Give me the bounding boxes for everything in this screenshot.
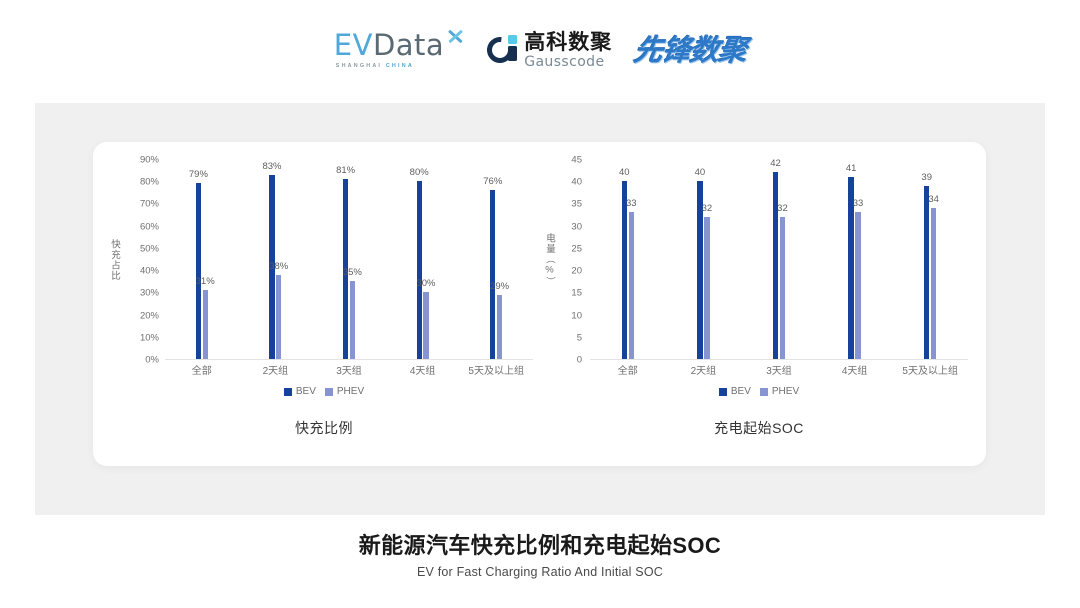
chart-legend: BEVPHEV [540,386,978,397]
gausscode-en-text: Gausscode [524,55,612,69]
bar-value-label: 41 [846,163,857,174]
bar-value-label: 30% [416,278,435,289]
y-axis-tick: 20 [571,266,582,277]
bar-value-label: 83% [262,161,281,172]
bar-bev[interactable]: 79% [196,183,201,359]
bar-value-label: 39 [921,172,932,183]
bar-group: 3934 [892,160,968,360]
bar-value-label: 40 [619,167,630,178]
bar-value-label: 76% [483,176,502,187]
y-axis-tick: 10 [571,310,582,321]
x-axis-tick-label: 3天组 [766,362,792,377]
bar-value-label: 33 [626,198,637,209]
bar-group: 76%29% [459,160,533,360]
evdata-data-text: Data [373,31,444,60]
y-axis-tick: 70% [140,199,159,210]
bar-value-label: 42 [770,158,781,169]
legend-label: PHEV [772,386,799,397]
legend-label: BEV [731,386,751,397]
bar-phev[interactable]: 31% [203,290,208,359]
x-cross-icon [445,26,465,46]
plot-area: 电量（%）05101520253035404540334032423241333… [540,160,978,360]
bar-phev[interactable]: 35% [350,281,355,359]
plot-area: 快充占比0%10%20%30%40%50%60%70%80%90%79%31%8… [105,160,543,360]
x-axis-tick-label: 2天组 [263,362,289,377]
legend-swatch-icon [325,388,333,396]
bar-phev[interactable]: 32 [704,217,709,359]
chart-title: 快充比例 [105,418,543,438]
y-axis-tick: 50% [140,243,159,254]
y-axis-ticks: 0%10%20%30%40%50%60%70%80%90% [123,160,159,360]
gausscode-logo: 高科数聚 Gausscode [487,32,612,69]
legend-label: PHEV [337,386,364,397]
y-axis-tick: 45 [571,155,582,166]
bar-bev[interactable]: 76% [490,190,495,359]
y-axis-tick: 5 [577,332,582,343]
bar-phev[interactable]: 34 [931,208,936,359]
bar-value-label: 32 [702,203,713,214]
chart-fast-charging-ratio: 快充占比0%10%20%30%40%50%60%70%80%90%79%31%8… [105,160,543,452]
bar-group: 4032 [666,160,742,360]
xianfeng-logo: 先锋数聚 [632,36,748,65]
chart-title: 充电起始SOC [540,418,978,438]
bar-value-label: 35% [343,267,362,278]
bars-region: 79%31%83%38%81%35%80%30%76%29% [165,160,533,360]
y-axis-tick: 40 [571,177,582,188]
bar-bev[interactable]: 42 [773,172,778,359]
legend-item-phev[interactable]: PHEV [325,386,364,397]
page-title: 新能源汽车快充比例和充电起始SOC [0,532,1080,560]
bar-phev[interactable]: 32 [780,217,785,359]
bar-value-label: 80% [410,167,429,178]
x-axis-tick-label: 2天组 [691,362,717,377]
logo-bar: EV Data SHANGHAI CHINA 高科数聚 Gausscode 先锋… [0,22,1080,78]
y-axis-ticks: 051015202530354045 [560,160,582,360]
evdata-ev-text: EV [334,31,373,60]
bar-value-label: 34 [928,194,939,205]
y-axis-tick: 0% [145,355,159,366]
bar-phev[interactable]: 33 [855,212,860,359]
y-axis-label: 电量（%） [542,233,556,287]
bar-value-label: 33 [853,198,864,209]
evdata-tagline-country: CHINA [386,63,414,69]
chart-initial-charging-soc: 电量（%）05101520253035404540334032423241333… [540,160,978,452]
bar-group: 4133 [817,160,893,360]
y-axis-tick: 15 [571,288,582,299]
y-axis-tick: 10% [140,332,159,343]
y-axis-tick: 30 [571,221,582,232]
bar-group: 81%35% [312,160,386,360]
bar-group: 4232 [741,160,817,360]
evdata-tagline: SHANGHAI CHINA [336,63,414,69]
y-axis-tick: 30% [140,288,159,299]
y-axis-tick: 25 [571,243,582,254]
bar-group: 79%31% [165,160,239,360]
bar-value-label: 29% [490,281,509,292]
legend-label: BEV [296,386,316,397]
bar-phev[interactable]: 38% [276,275,281,359]
legend-swatch-icon [760,388,768,396]
y-axis-tick: 20% [140,310,159,321]
legend-swatch-icon [719,388,727,396]
evdata-wordmark: EV Data [334,31,465,60]
page-subtitle: EV for Fast Charging Ratio And Initial S… [0,565,1080,579]
y-axis-tick: 80% [140,177,159,188]
bars-region: 40334032423241333934 [590,160,968,360]
bar-phev[interactable]: 33 [629,212,634,359]
charts-card: 快充占比0%10%20%30%40%50%60%70%80%90%79%31%8… [93,142,986,466]
bar-value-label: 38% [269,261,288,272]
x-axis-tick-label: 全部 [618,362,638,377]
x-axis-labels: 全部2天组3天组4天组5天及以上组 [165,362,533,380]
x-axis-tick-label: 5天及以上组 [902,362,958,377]
bar-group: 83%38% [239,160,313,360]
x-axis-tick-label: 5天及以上组 [468,362,524,377]
bar-group: 80%30% [386,160,460,360]
y-axis-tick: 90% [140,155,159,166]
bar-value-label: 40 [695,167,706,178]
bar-phev[interactable]: 29% [497,295,502,359]
chart-legend: BEVPHEV [105,386,543,397]
bar-phev[interactable]: 30% [423,292,428,359]
x-axis-tick-label: 3天组 [336,362,362,377]
gausscode-c-mark-icon [487,35,517,65]
x-axis-labels: 全部2天组3天组4天组5天及以上组 [590,362,968,380]
gausscode-wordmark: 高科数聚 Gausscode [524,32,612,69]
y-axis-label: 快充占比 [107,239,121,281]
bar-group: 4033 [590,160,666,360]
bar-value-label: 81% [336,165,355,176]
bar-bev[interactable]: 39 [924,186,929,359]
evdata-tagline-city: SHANGHAI [336,63,382,69]
gausscode-cn-text: 高科数聚 [524,32,612,53]
bar-value-label: 31% [196,276,215,287]
y-axis-tick: 0 [577,355,582,366]
legend-item-bev[interactable]: BEV [284,386,316,397]
x-axis-tick-label: 4天组 [842,362,868,377]
bar-bev[interactable]: 80% [417,181,422,359]
bar-value-label: 32 [777,203,788,214]
footer-caption: 新能源汽车快充比例和充电起始SOC EV for Fast Charging R… [0,532,1080,579]
x-axis-tick-label: 全部 [192,362,212,377]
bar-value-label: 79% [189,169,208,180]
y-axis-tick: 60% [140,221,159,232]
evdata-logo: EV Data SHANGHAI CHINA [334,31,465,69]
y-axis-tick: 40% [140,266,159,277]
legend-item-bev[interactable]: BEV [719,386,751,397]
y-axis-tick: 35 [571,199,582,210]
legend-swatch-icon [284,388,292,396]
x-axis-tick-label: 4天组 [410,362,436,377]
legend-item-phev[interactable]: PHEV [760,386,799,397]
